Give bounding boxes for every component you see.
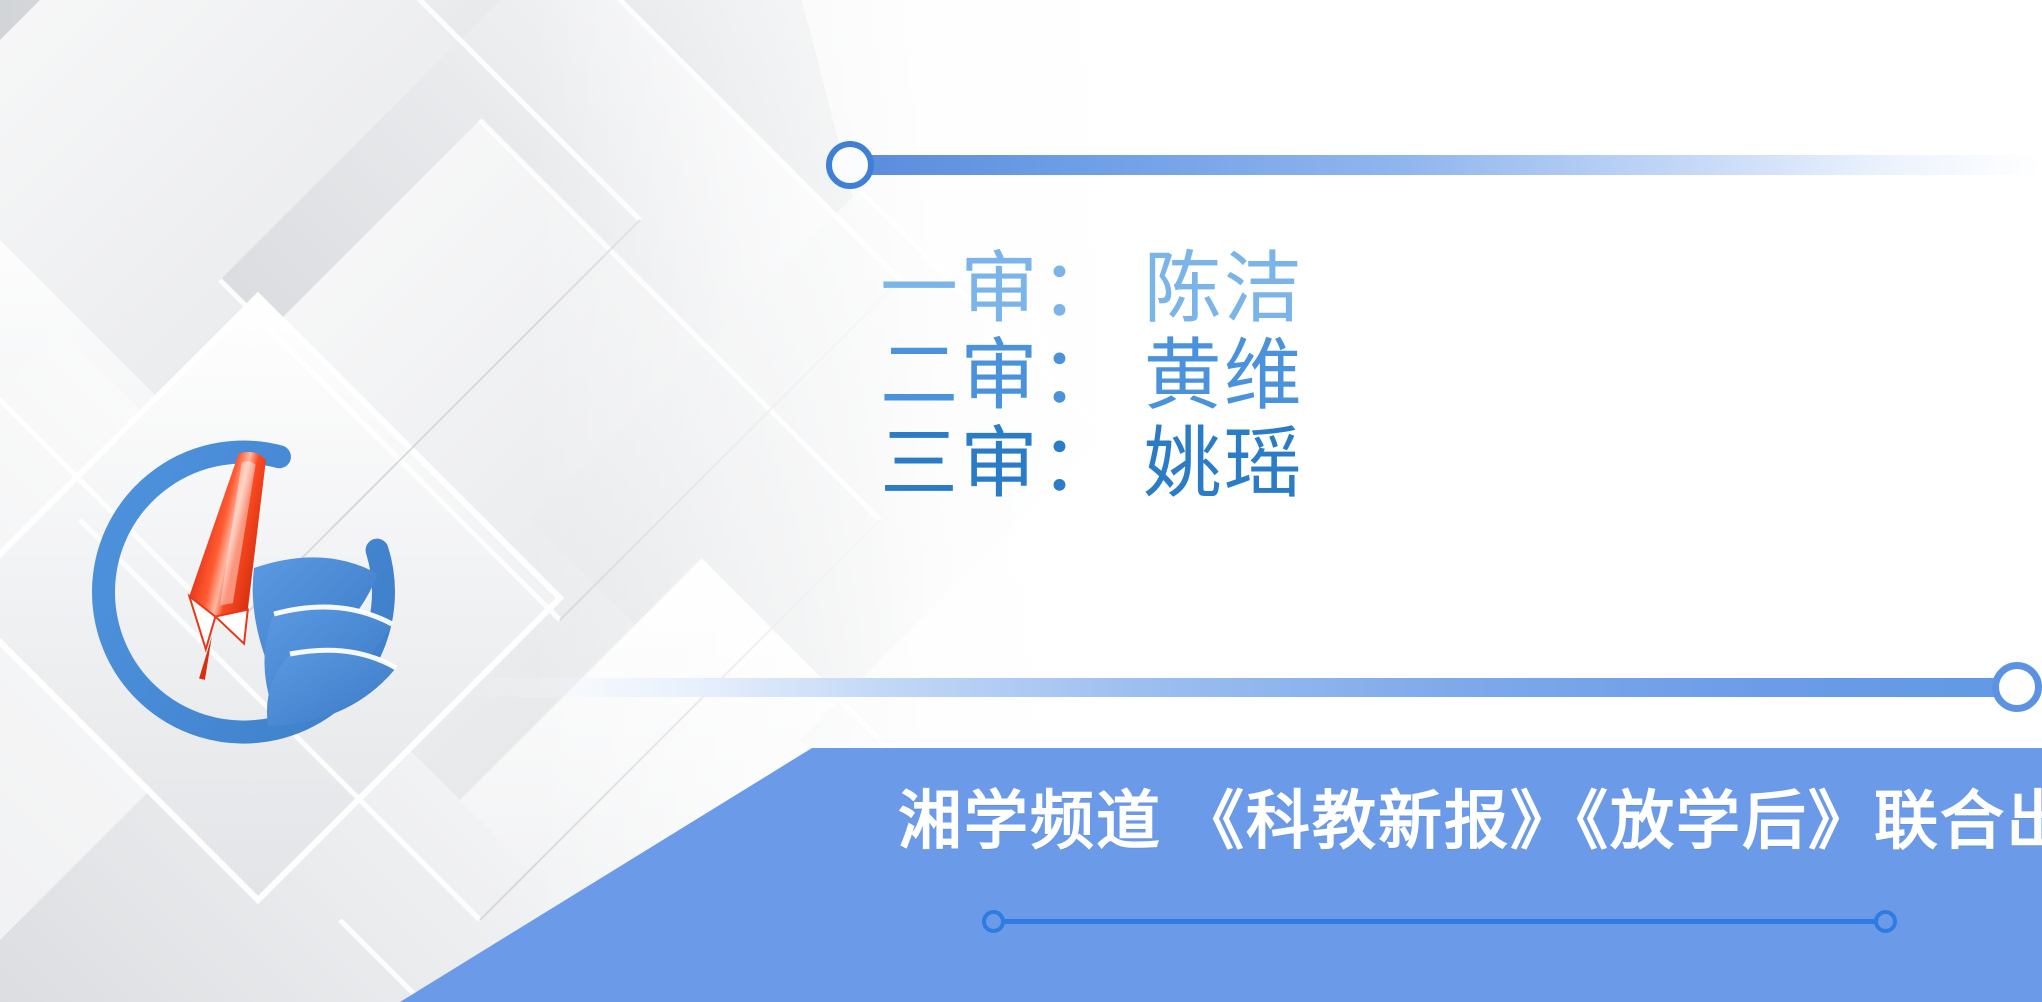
banner-connector-dot-right-icon — [1874, 910, 1897, 933]
top-divider-knob-icon — [826, 141, 874, 189]
banner-connector-dot-left-icon — [982, 910, 1005, 933]
middle-divider-rule — [440, 678, 2022, 697]
credit-line-first-review: 一审： 陈洁 — [880, 245, 1700, 332]
credit-line-third-review: 三审： 姚瑶 — [880, 420, 1700, 507]
banner-title: 湘学频道 《科教新报》《放学后》联合出品 — [898, 770, 2042, 862]
slide-canvas: 一审： 陈洁 二审： 黄维 三审： 姚瑶 湘学频道 《科教新报》《放学后》联合出… — [0, 0, 2042, 1002]
credits-block: 一审： 陈洁 二审： 黄维 三审： 姚瑶 — [880, 245, 1700, 507]
xiangxue-channel-logo — [78, 392, 438, 752]
banner-connector-rule — [1000, 919, 1884, 924]
top-divider-rule — [866, 155, 2042, 175]
credit-line-second-review: 二审： 黄维 — [880, 332, 1700, 419]
middle-divider-knob-icon — [1992, 662, 2042, 712]
